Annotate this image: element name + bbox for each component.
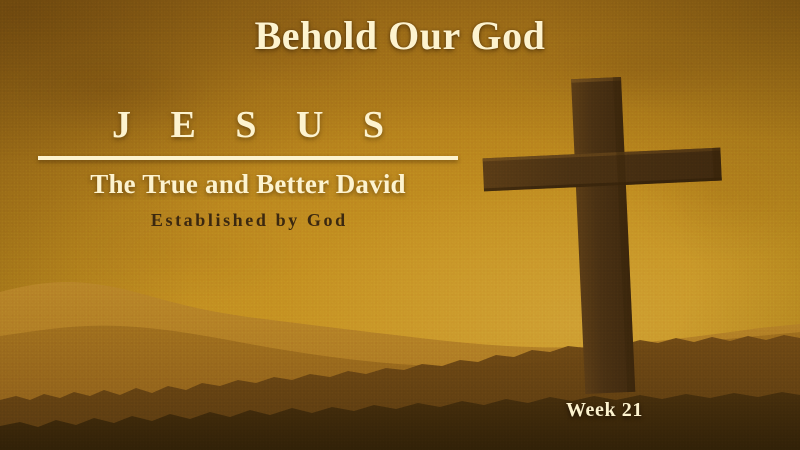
sermon-subtitle: The True and Better David [38, 169, 458, 200]
series-name: J E S U S [38, 104, 458, 147]
sermon-tagline: Established by God [38, 210, 458, 231]
week-label: Week 21 [566, 399, 643, 422]
divider-rule [38, 156, 458, 160]
sermon-title-slide: Behold Our God J E S U S The True and Be… [0, 0, 800, 450]
series-title-block: J E S U S The True and Better David Esta… [38, 104, 458, 231]
page-title: Behold Our God [0, 12, 800, 59]
hill-silhouettes [0, 250, 800, 450]
